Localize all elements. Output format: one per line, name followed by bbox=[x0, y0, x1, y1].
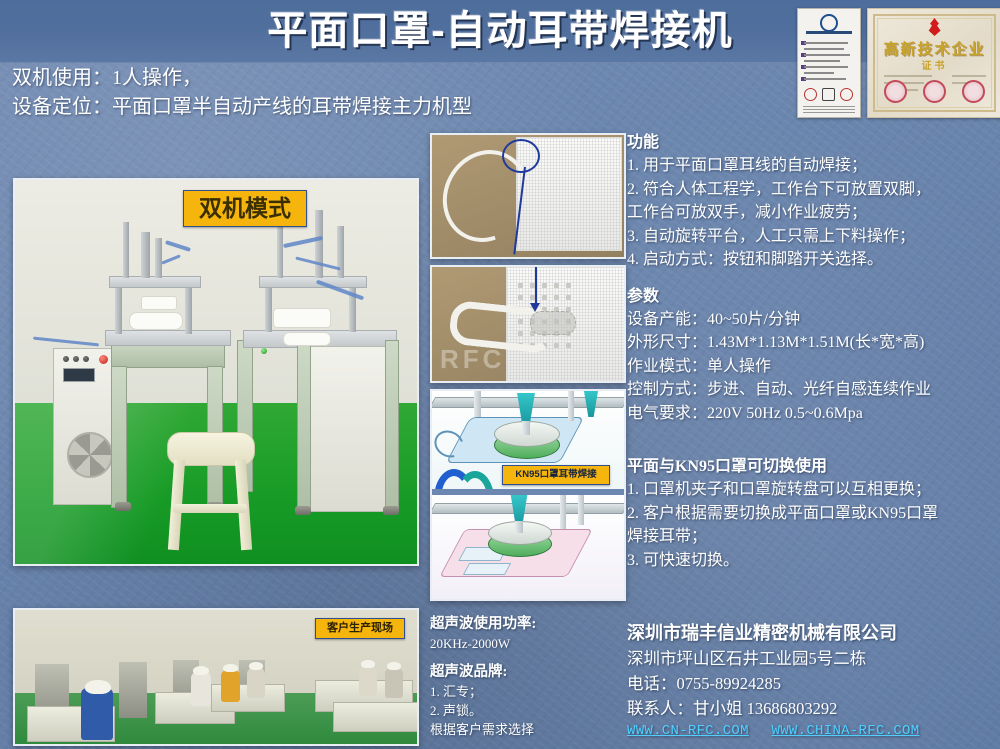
company-name: 深圳市瑞丰信业精密机械有限公司 bbox=[627, 620, 999, 646]
features-heading: 功能 bbox=[627, 131, 997, 154]
subtitle-block: 双机使用：1人操作， 设备定位：平面口罩半自动产线的耳带焊接主力机型 bbox=[12, 64, 612, 122]
website-link-1[interactable]: WWW.CN-RFC.COM bbox=[627, 723, 749, 739]
parameter-capacity: 设备产能：40~50片/分钟 bbox=[627, 308, 997, 332]
factory-site-badge: 客户生产现场 bbox=[315, 618, 405, 639]
features-item-4: 4. 启动方式：按钮和脚踏开关选择。 bbox=[627, 248, 997, 272]
parameter-dimensions: 外形尺寸：1.43M*1.13M*1.51M(长*宽*高) bbox=[627, 331, 997, 355]
info-column: 功能 1. 用于平面口罩耳线的自动焊接； 2. 符合人体工程学，工作台下可放置双… bbox=[627, 131, 997, 572]
ultrasonic-brand-2: 2. 声锁。 bbox=[430, 701, 615, 720]
switchable-item-2: 2. 客户根据需要切换成平面口罩或KN95口罩 bbox=[627, 502, 997, 526]
ultrasonic-brand-heading: 超声波品牌: bbox=[430, 662, 615, 682]
weld-closeup-photo: RFC bbox=[430, 265, 626, 383]
cad-badge-kn95: KN95口罩耳带焊接 bbox=[502, 465, 610, 485]
watermark: RFC bbox=[440, 344, 505, 375]
parameter-electrical: 电气要求：220V 50Hz 0.5~0.6Mpa bbox=[627, 402, 997, 426]
highlight-circle bbox=[502, 139, 540, 173]
weld-spot bbox=[530, 311, 576, 335]
features-item-2: 2. 符合人体工程学，工作台下可放置双脚， bbox=[627, 178, 997, 202]
switchable-item-2b: 焊接耳带； bbox=[627, 525, 997, 549]
contact-block: 深圳市瑞丰信业精密机械有限公司 深圳市坪山区石井工业园5号二栋 电话：0755-… bbox=[627, 620, 999, 739]
mask-earloop-photo bbox=[430, 133, 626, 259]
company-address: 深圳市坪山区石井工业园5号二栋 bbox=[627, 646, 999, 671]
certificate-seals bbox=[804, 88, 853, 101]
switchable-item-1: 1. 口罩机夹子和口罩旋转盘可以互相更换； bbox=[627, 478, 997, 502]
control-panel-screen bbox=[63, 368, 95, 382]
cad-switchable-diagram: KN95口罩耳带焊接 平面口罩耳带焊接 bbox=[430, 389, 626, 601]
factory-photo: 客户生产现场 bbox=[13, 608, 419, 746]
parameter-operation-mode: 作业模式：单人操作 bbox=[627, 355, 997, 379]
ultrasonic-spec-block: 超声波使用功率: 20KHz-2000W 超声波品牌: 1. 汇专； 2. 声锁… bbox=[430, 614, 615, 739]
page-title: 平面口罩-自动耳带焊接机 bbox=[195, 2, 805, 60]
subtitle-line-2: 设备定位：平面口罩半自动产线的耳带焊接主力机型 bbox=[12, 93, 612, 122]
high-tech-enterprise-certificate-image: 高新技术企业 证书 bbox=[867, 8, 1000, 118]
website-link-2[interactable]: WWW.CHINA-RFC.COM bbox=[772, 723, 920, 739]
contact-person: 联系人：甘小姐 13686803292 bbox=[627, 696, 999, 721]
emergency-stop-button[interactable] bbox=[99, 355, 108, 364]
switchable-heading: 平面与KN95口罩可切换使用 bbox=[627, 455, 997, 478]
switchable-item-3: 3. 可快速切换。 bbox=[627, 549, 997, 573]
certificate-subtitle: 证书 bbox=[868, 57, 1000, 72]
arrow-icon bbox=[530, 303, 540, 312]
quality-certificate-image bbox=[797, 8, 861, 118]
subtitle-line-1: 双机使用：1人操作， bbox=[12, 64, 612, 93]
parameter-control-mode: 控制方式：步进、自动、光纤自感连续作业 bbox=[627, 378, 997, 402]
ultrasonic-brand-1: 1. 汇专； bbox=[430, 682, 615, 701]
features-item-2b: 工作台可放双手，减小作业疲劳； bbox=[627, 201, 997, 225]
features-item-1: 1. 用于平面口罩耳线的自动焊接； bbox=[627, 154, 997, 178]
machine-mode-badge: 双机模式 bbox=[183, 190, 307, 227]
certificate-title: 高新技术企业 bbox=[868, 38, 1000, 59]
ultrasonic-power-value: 20KHz-2000W bbox=[430, 634, 615, 653]
company-phone: 电话：0755-89924285 bbox=[627, 671, 999, 696]
status-light bbox=[261, 348, 267, 354]
worker bbox=[81, 688, 113, 740]
website-links: WWW.CN-RFC.COM WWW.CHINA-RFC.COM bbox=[627, 723, 999, 739]
certificate-group: 高新技术企业 证书 bbox=[797, 8, 1000, 118]
ultrasonic-note: 根据客户需求选择 bbox=[430, 720, 615, 739]
cad-flat-view: 平面口罩耳带焊接 bbox=[432, 495, 624, 599]
certificate-stamps bbox=[868, 80, 1000, 103]
stool bbox=[167, 432, 253, 550]
certificate-logo-icon bbox=[820, 14, 838, 32]
fan-icon bbox=[67, 432, 113, 478]
machine-photo: 双机模式 bbox=[13, 178, 419, 566]
features-item-3: 3. 自动旋转平台，人工只需上下料操作； bbox=[627, 225, 997, 249]
parameters-heading: 参数 bbox=[627, 285, 997, 308]
ultrasonic-power-heading: 超声波使用功率: bbox=[430, 614, 615, 634]
